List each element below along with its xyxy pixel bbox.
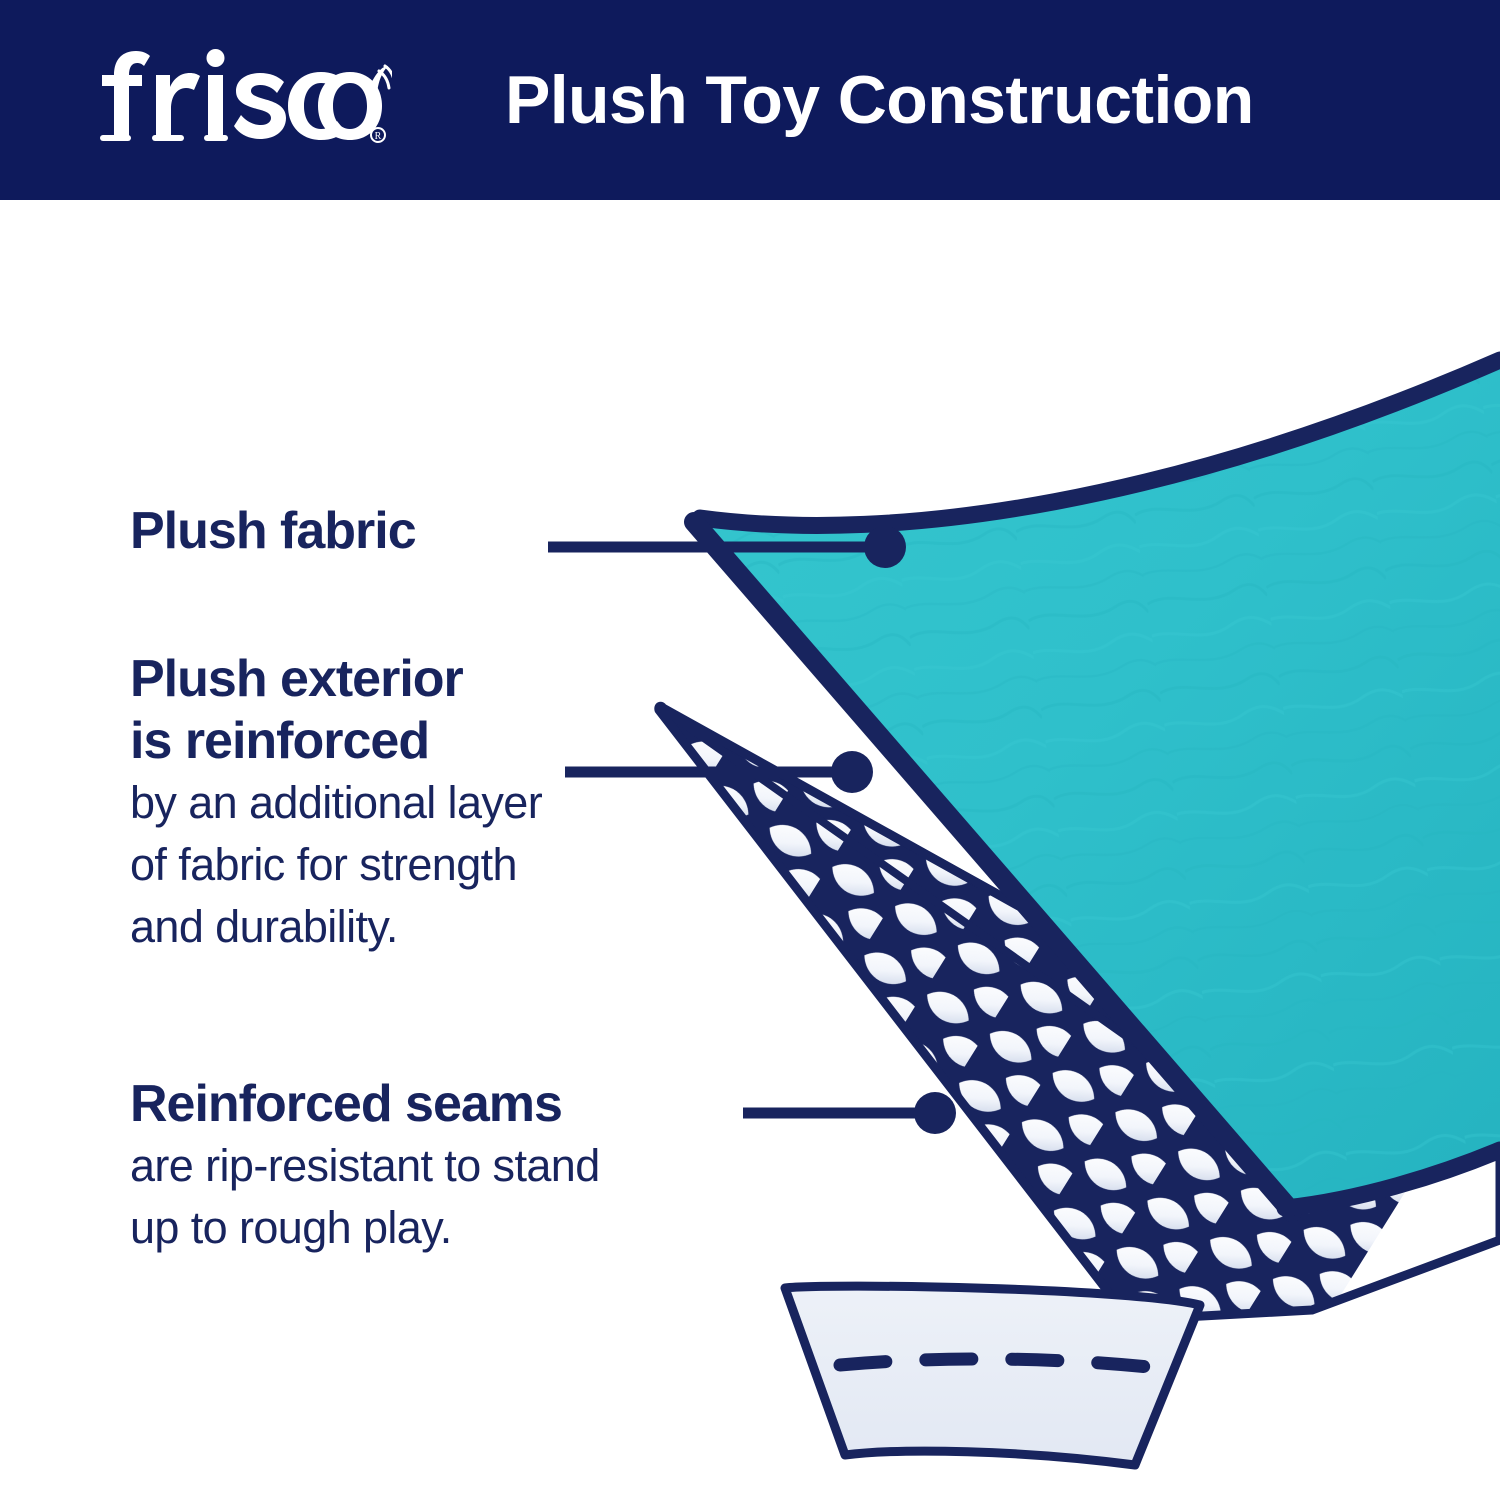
infographic-page: R Plush Toy Construction <box>0 0 1500 1500</box>
callout-plush-fabric: Plush fabric <box>130 500 416 562</box>
header-bar: R Plush Toy Construction <box>0 0 1500 200</box>
callout-body-line-2: of fabric for strength <box>130 834 542 896</box>
registered-trademark-icon: R <box>371 128 385 142</box>
seam-flap <box>785 1286 1200 1465</box>
callout-heading: Plush fabric <box>130 500 416 562</box>
callout-plush-exterior: Plush exterior is reinforced by an addit… <box>130 648 542 958</box>
callout-body-line-1: are rip-resistant to stand <box>130 1135 600 1197</box>
page-title: Plush Toy Construction <box>505 50 1405 150</box>
callout-body-line-2: up to rough play. <box>130 1197 600 1259</box>
callout-body-line-1: by an additional layer <box>130 772 542 834</box>
callout-heading-line-2: is reinforced <box>130 710 542 772</box>
callout-body-line-3: and durability. <box>130 896 542 958</box>
svg-text:R: R <box>375 131 382 142</box>
callout-reinforced-seams: Reinforced seams are rip-resistant to st… <box>130 1073 600 1259</box>
frisco-logo: R <box>82 42 392 152</box>
callout-heading: Reinforced seams <box>130 1073 600 1135</box>
callout-heading-line-1: Plush exterior <box>130 648 542 710</box>
leader-reinforced-seams <box>743 1092 956 1134</box>
